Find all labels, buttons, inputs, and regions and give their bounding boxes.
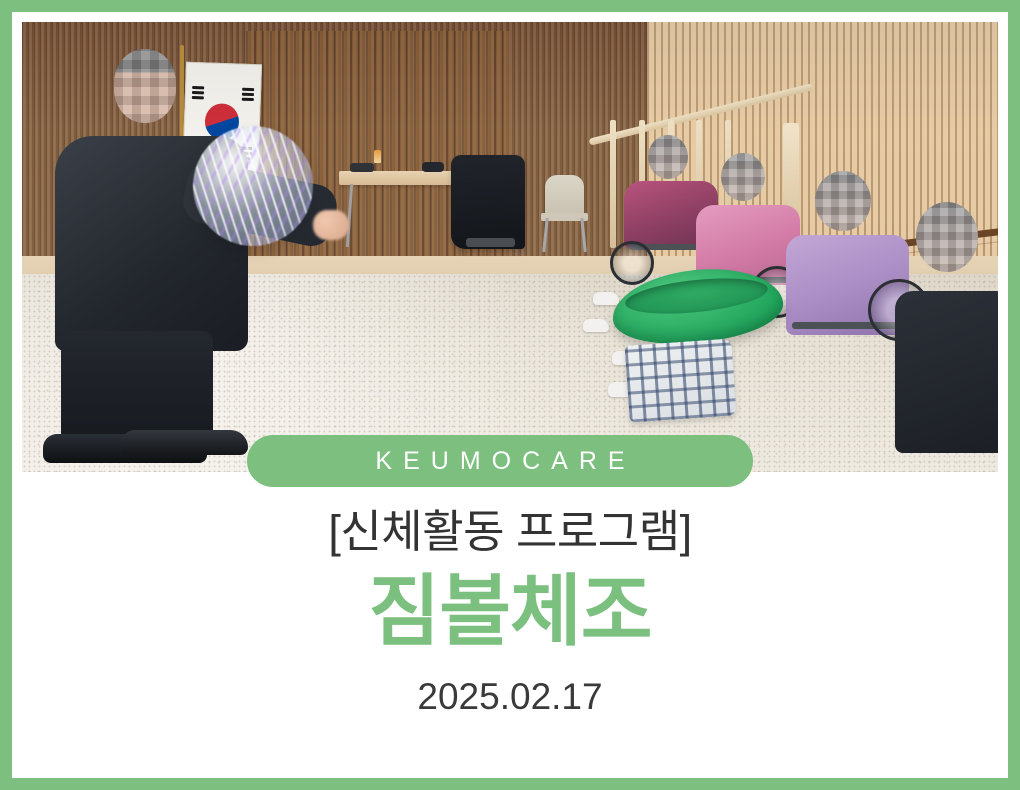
wheelchair-wheel — [610, 241, 654, 285]
participant-shoe — [593, 292, 619, 305]
equipment-case — [350, 163, 374, 172]
keumocare-badge: KEUMOCARE — [247, 435, 753, 487]
plaid-blanket — [625, 338, 737, 422]
gym-ball — [193, 126, 313, 246]
instructor-hand — [313, 210, 349, 240]
program-subtitle: [신체활동 프로그램] — [12, 504, 1008, 560]
draped-jacket — [451, 155, 524, 250]
program-photo — [22, 22, 998, 472]
participant-shoe — [583, 319, 609, 332]
blurred-face — [114, 49, 176, 123]
chair-leg — [543, 218, 550, 252]
participant-torso — [895, 291, 998, 453]
blurred-face — [916, 202, 978, 272]
badge-label: KEUMOCARE — [364, 447, 635, 476]
instructor-shoe — [120, 430, 249, 455]
chair-base — [466, 238, 515, 247]
folding-chair — [539, 175, 590, 252]
blurred-face — [721, 153, 765, 201]
program-date: 2025.02.17 — [12, 676, 1008, 718]
instructor — [32, 49, 325, 463]
baluster — [610, 120, 616, 249]
caption-block: [신체활동 프로그램] 짐볼체조 2025.02.17 — [12, 504, 1008, 718]
blurred-face — [648, 135, 688, 179]
program-card: KEUMOCARE [신체활동 프로그램] 짐볼체조 2025.02.17 — [0, 0, 1020, 790]
bottle — [374, 150, 381, 163]
chair-back — [545, 175, 584, 215]
program-title: 짐볼체조 — [12, 562, 1008, 662]
chair-leg — [580, 218, 587, 252]
photo-scene — [22, 22, 998, 472]
blurred-face — [815, 171, 871, 231]
participant — [900, 202, 998, 463]
speaker — [422, 162, 444, 172]
